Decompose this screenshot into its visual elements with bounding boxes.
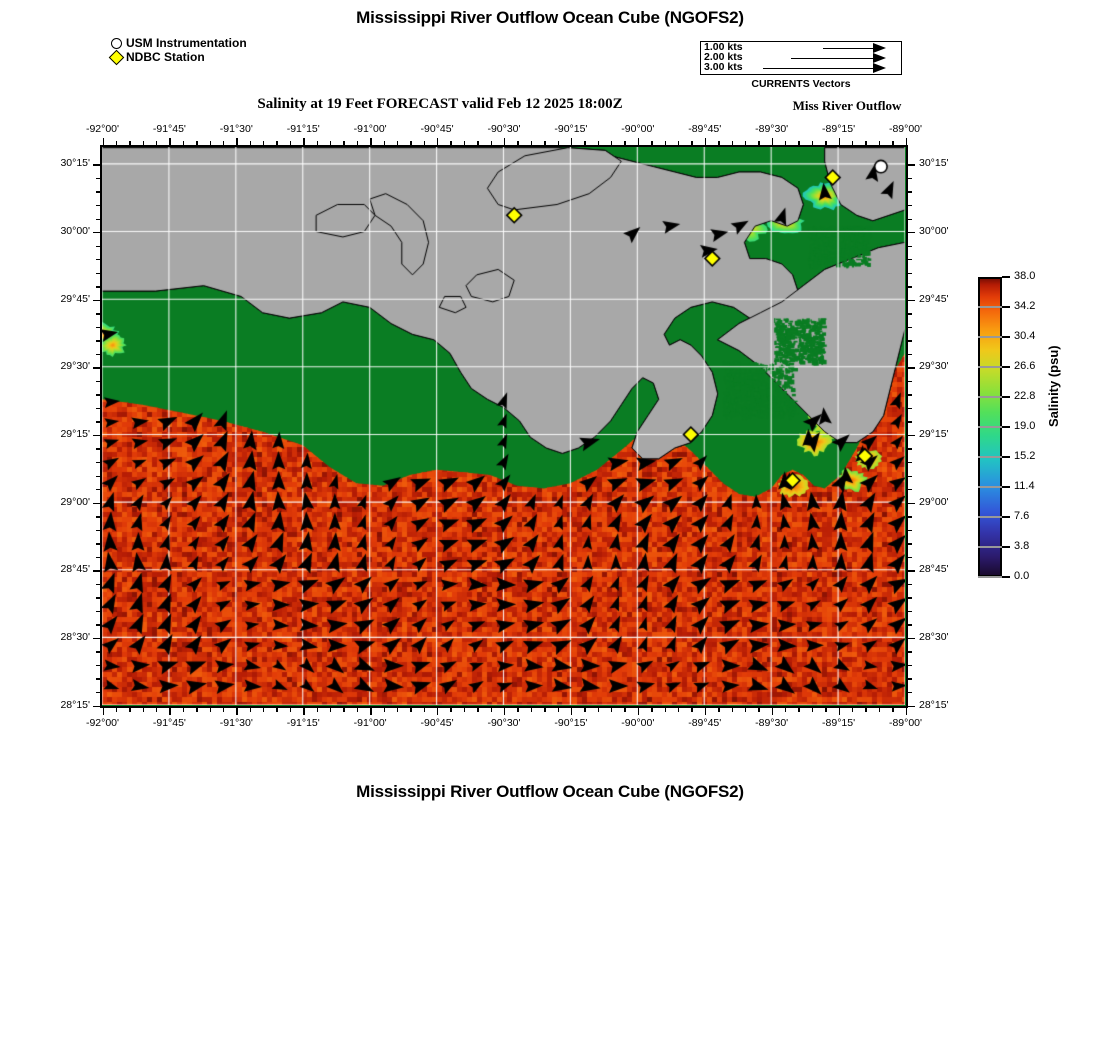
colorbar-tick-label: 34.2	[1014, 300, 1035, 312]
colorbar-separator	[978, 456, 1002, 458]
colorbar-tick-label: 15.2	[1014, 450, 1035, 462]
colorbar-separator	[978, 366, 1002, 368]
colorbar-separator	[978, 576, 1002, 578]
colorbar-tick-label: 30.4	[1014, 330, 1035, 342]
colorbar-tick-label: 3.8	[1014, 540, 1029, 552]
colorbar-tick	[1002, 396, 1010, 398]
colorbar-tick	[1002, 456, 1010, 458]
colorbar-separator	[978, 516, 1002, 518]
colorbar-tick-label: 26.6	[1014, 360, 1035, 372]
colorbar-tick-label: 0.0	[1014, 570, 1029, 582]
colorbar-separator	[978, 306, 1002, 308]
colorbar-tick-label: 22.8	[1014, 390, 1035, 402]
colorbar-separator	[978, 546, 1002, 548]
colorbar-title: Salinity (psu)	[1046, 345, 1061, 427]
colorbar-tick	[1002, 426, 1010, 428]
colorbar-tick	[1002, 576, 1010, 578]
colorbar-tick-label: 11.4	[1014, 480, 1035, 492]
colorbar-tick-label: 7.6	[1014, 510, 1029, 522]
colorbar-labels: 38.034.230.426.622.819.015.211.47.63.80.…	[0, 0, 1100, 1050]
colorbar-separator	[978, 426, 1002, 428]
colorbar-tick	[1002, 486, 1010, 488]
colorbar-tick	[1002, 546, 1010, 548]
colorbar-tick	[1002, 306, 1010, 308]
colorbar-tick	[1002, 516, 1010, 518]
colorbar-separator	[978, 336, 1002, 338]
colorbar-separator	[978, 486, 1002, 488]
colorbar-tick-label: 19.0	[1014, 420, 1035, 432]
colorbar-tick	[1002, 336, 1010, 338]
colorbar-tick-label: 38.0	[1014, 270, 1035, 282]
colorbar-tick	[1002, 366, 1010, 368]
colorbar-tick	[1002, 276, 1010, 278]
colorbar-separator	[978, 396, 1002, 398]
